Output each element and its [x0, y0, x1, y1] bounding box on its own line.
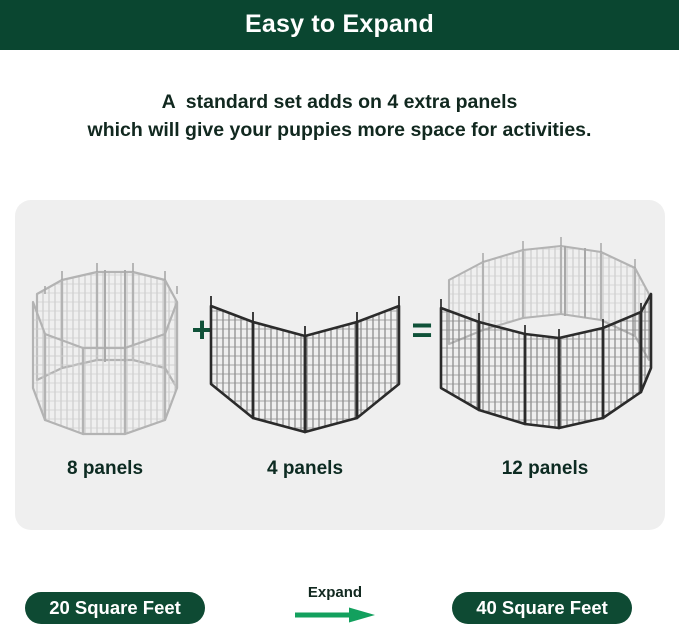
- footer-row: 20 Square Feet Expand 40 Square Feet: [0, 582, 679, 632]
- arrow-right-icon: [293, 606, 377, 624]
- subtitle-line-2: which will give your puppies more space …: [0, 116, 679, 144]
- playpen-8-panel-figure: [25, 230, 185, 445]
- caption-8-panels: 8 panels: [25, 458, 185, 480]
- four-panel-fence-icon: [205, 230, 405, 445]
- equals-operator: =: [405, 312, 439, 348]
- status-badge-40-square-feet: 40 Square Feet: [452, 592, 632, 624]
- caption-4-panels: 4 panels: [205, 458, 405, 480]
- page-title: Easy to Expand: [245, 12, 434, 37]
- subtitle-block: A standard set adds on 4 extra panels wh…: [0, 88, 679, 144]
- illustration-card: + =: [15, 200, 665, 530]
- expand-indicator: Expand: [270, 582, 400, 632]
- subtitle-line-1: A standard set adds on 4 extra panels: [0, 88, 679, 116]
- octagon-playpen-icon: [25, 230, 185, 445]
- playpen-12-panel-figure: [435, 222, 655, 447]
- dodecagon-playpen-icon: [435, 222, 655, 447]
- playpen-4-panel-figure: [205, 230, 405, 445]
- header-banner: Easy to Expand: [0, 0, 679, 50]
- status-badge-20-square-feet: 20 Square Feet: [25, 592, 205, 624]
- expand-label: Expand: [270, 584, 400, 602]
- caption-12-panels: 12 panels: [435, 458, 655, 480]
